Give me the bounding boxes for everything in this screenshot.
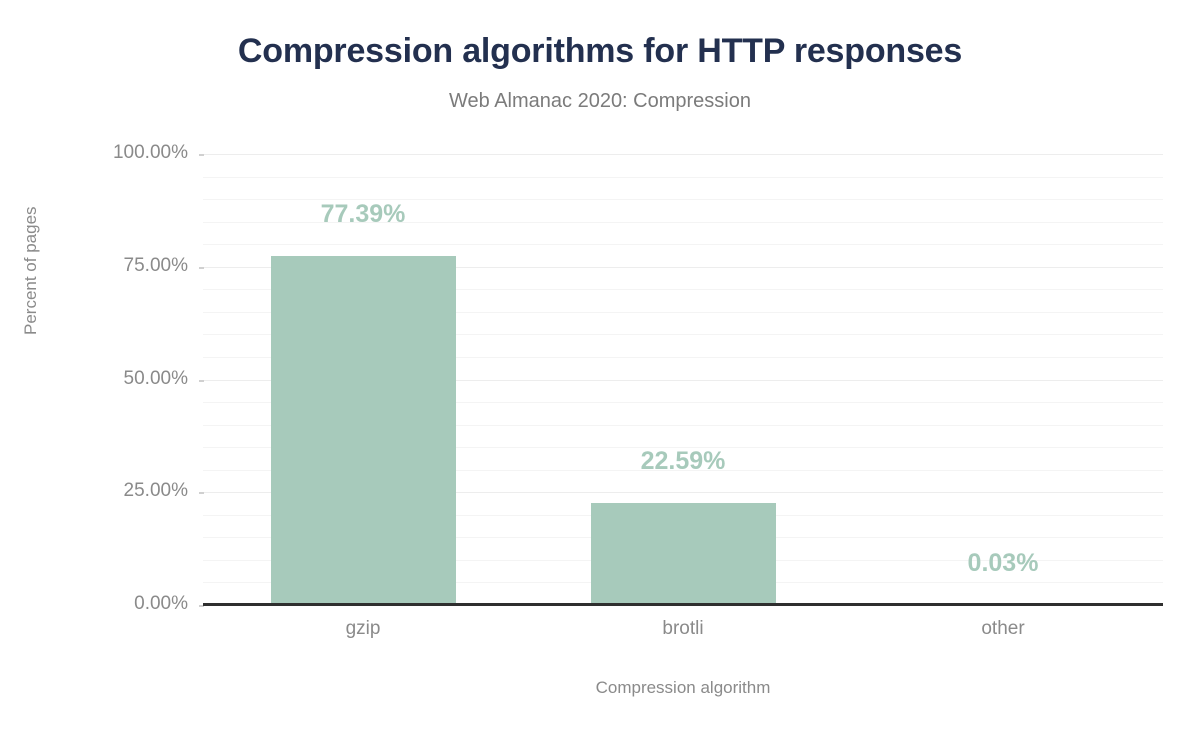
bar-value-label: 0.03% <box>883 549 1123 578</box>
y-tick-mark <box>199 380 204 382</box>
gridline-major <box>203 154 1163 155</box>
y-axis-title: Percent of pages <box>21 135 43 335</box>
y-tick-label: 0.00% <box>28 593 188 615</box>
y-tick-mark <box>199 154 204 156</box>
y-tick-mark <box>199 492 204 494</box>
x-axis-title: Compression algorithm <box>203 678 1163 698</box>
y-tick-label: 100.00% <box>28 142 188 164</box>
bar-value-label: 22.59% <box>563 447 803 476</box>
chart-title: Compression algorithms for HTTP response… <box>0 32 1200 71</box>
y-tick-label: 25.00% <box>28 480 188 502</box>
y-tick-label: 50.00% <box>28 368 188 390</box>
bar-value-label: 77.39% <box>243 200 483 229</box>
bar[interactable] <box>271 256 456 605</box>
chart-figure: Compression algorithms for HTTP response… <box>0 0 1200 742</box>
x-tick-label: gzip <box>243 618 483 640</box>
x-tick-label: brotli <box>563 618 803 640</box>
chart-subtitle: Web Almanac 2020: Compression <box>0 90 1200 113</box>
gridline-minor <box>203 177 1163 178</box>
x-axis-baseline <box>203 603 1163 606</box>
x-tick-label: other <box>883 618 1123 640</box>
y-tick-mark <box>199 267 204 269</box>
y-tick-label: 75.00% <box>28 255 188 277</box>
bar[interactable] <box>591 503 776 605</box>
gridline-minor <box>203 244 1163 245</box>
